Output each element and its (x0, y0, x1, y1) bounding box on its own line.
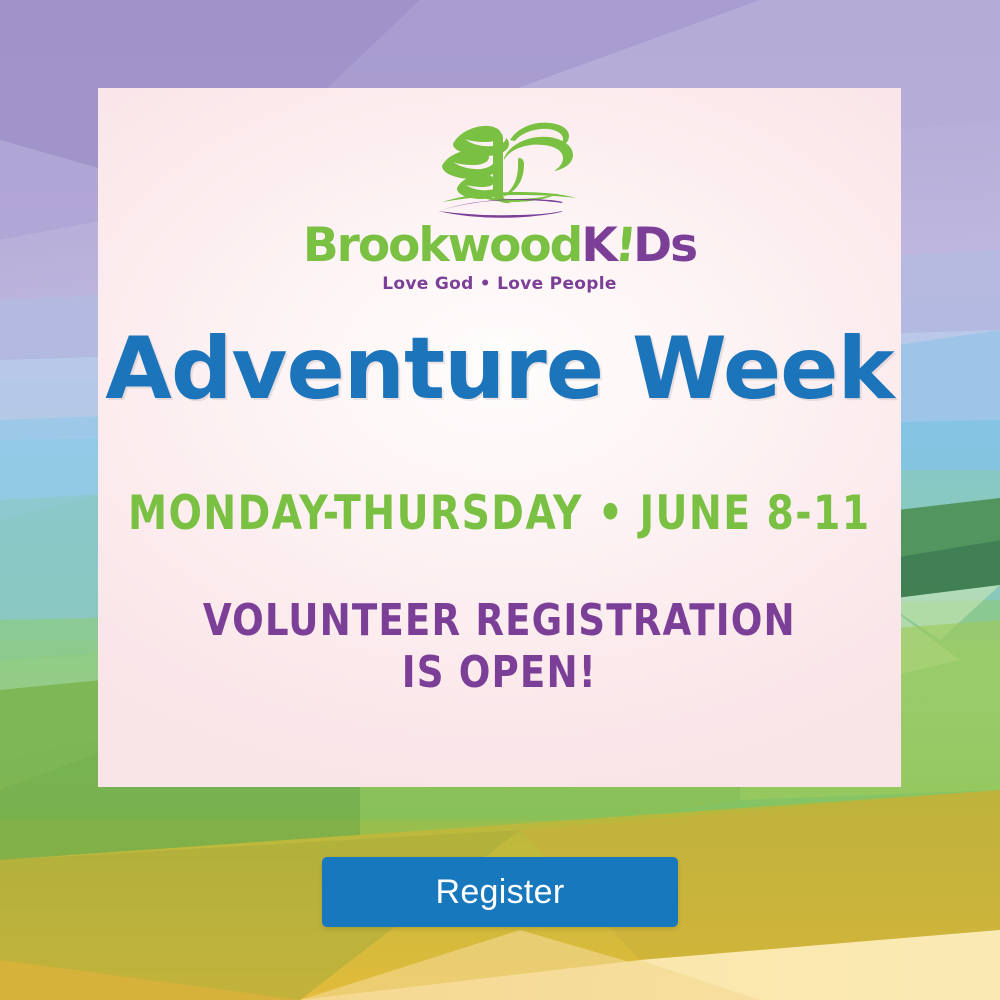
page-title: Adventure Week (105, 326, 893, 412)
event-dates: MONDAY-THURSDAY • JUNE 8-11 (128, 490, 871, 537)
wordmark-k: K (581, 222, 615, 269)
brookwood-kids-wordmark: BrookwoodK!Ds (303, 222, 696, 269)
promo-poster: BrookwoodK!Ds Love God • Love People Adv… (0, 0, 1000, 1000)
logo-tagline: Love God • Love People (382, 274, 616, 294)
volunteer-message: VOLUNTEER REGISTRATION IS OPEN! (203, 595, 796, 699)
volunteer-message-line1: VOLUNTEER REGISTRATION (203, 595, 796, 647)
content-card: BrookwoodK!Ds Love God • Love People Adv… (98, 88, 901, 787)
brookwood-tree-icon (424, 114, 576, 218)
wordmark-ds: Ds (633, 222, 696, 269)
volunteer-message-line2: IS OPEN! (203, 647, 796, 699)
register-button[interactable]: Register (322, 857, 678, 927)
wordmark-brookwood: Brookwood (303, 222, 581, 269)
brookwood-kids-logo: BrookwoodK!Ds Love God • Love People (303, 114, 696, 294)
